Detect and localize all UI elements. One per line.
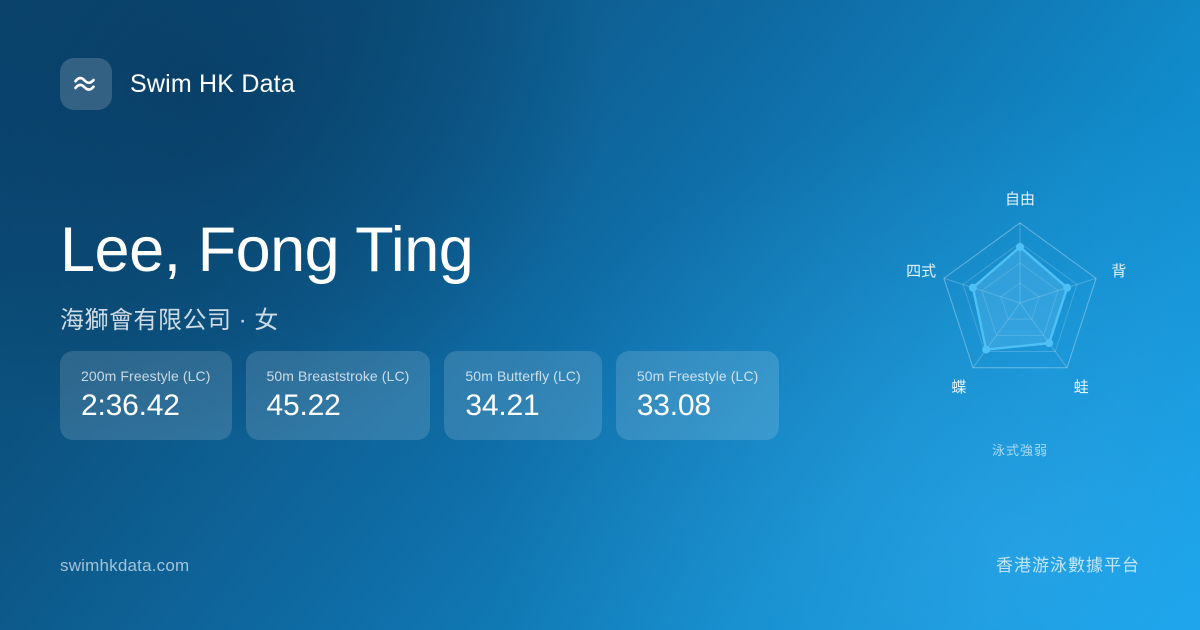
radar-data-point (1016, 243, 1024, 251)
radar-data-point (982, 346, 990, 354)
footer-site-url: swimhkdata.com (60, 556, 189, 576)
wave-icon (60, 58, 112, 110)
athlete-header: Lee, Fong Ting 海獅會有限公司 · 女 (60, 215, 473, 335)
radar-data-point (1045, 339, 1053, 347)
stroke-strength-radar-chart: 自由背蛙蝶四式 泳式強弱 (860, 160, 1180, 480)
radar-axis-label: 四式 (906, 263, 936, 280)
brand: Swim HK Data (60, 58, 295, 110)
stat-card-label: 200m Freestyle (LC) (81, 368, 211, 384)
athlete-meta: 海獅會有限公司 · 女 (60, 300, 473, 335)
stat-card-value: 33.08 (637, 390, 759, 422)
radar-caption: 泳式強弱 (860, 440, 1180, 459)
radar-data-point (969, 284, 977, 292)
page-title: Lee, Fong Ting (60, 215, 473, 286)
radar-axis-label: 蝶 (951, 379, 966, 396)
brand-name: Swim HK Data (130, 70, 295, 99)
stat-card-value: 34.21 (465, 390, 580, 422)
stat-card-list: 200m Freestyle (LC) 2:36.42 50m Breastst… (60, 351, 779, 440)
radar-data-point (1063, 284, 1071, 292)
radar-axis-label: 背 (1111, 263, 1126, 280)
radar-axis-label: 自由 (1005, 191, 1035, 208)
stat-card-label: 50m Butterfly (LC) (465, 368, 580, 384)
stat-card: 200m Freestyle (LC) 2:36.42 (60, 351, 232, 440)
stat-card-value: 45.22 (267, 390, 410, 422)
stat-card-label: 50m Freestyle (LC) (637, 368, 759, 384)
stat-card-label: 50m Breaststroke (LC) (267, 368, 410, 384)
radar-axis-label: 蛙 (1074, 379, 1089, 396)
footer-tagline: 香港游泳數據平台 (996, 551, 1140, 576)
stat-card: 50m Freestyle (LC) 33.08 (616, 351, 780, 440)
og-card: Swim HK Data Lee, Fong Ting 海獅會有限公司 · 女 … (0, 0, 1200, 630)
stat-card-value: 2:36.42 (81, 390, 211, 422)
radar-data-area (973, 247, 1067, 350)
stat-card: 50m Breaststroke (LC) 45.22 (246, 351, 431, 440)
stat-card: 50m Butterfly (LC) 34.21 (444, 351, 601, 440)
